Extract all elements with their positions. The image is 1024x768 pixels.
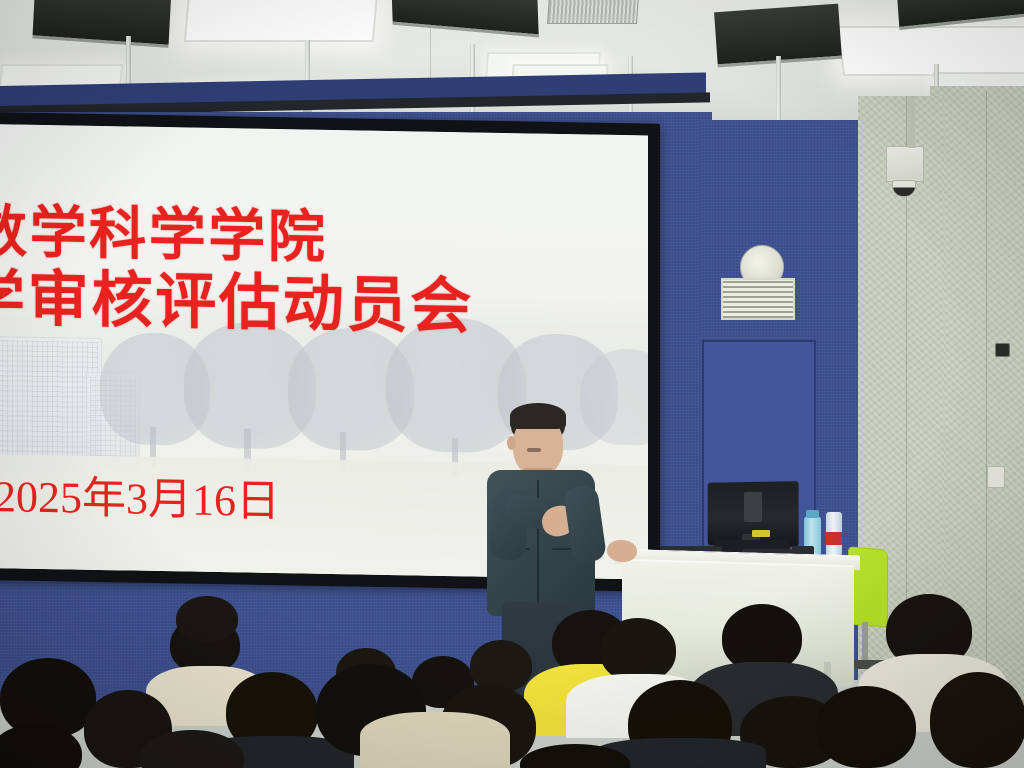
presenter-mouth bbox=[527, 448, 541, 452]
audience-head bbox=[816, 686, 916, 768]
equipment-box bbox=[886, 146, 924, 182]
audience-head bbox=[176, 596, 238, 642]
ceiling-air-vent bbox=[547, 0, 639, 24]
wall-plate bbox=[987, 466, 1005, 488]
audience-shoulders bbox=[360, 712, 510, 768]
led-panel-light bbox=[837, 26, 1024, 76]
wall-fixture bbox=[995, 343, 1010, 357]
bottle-cap bbox=[806, 510, 819, 518]
wall-vent-grille bbox=[721, 278, 795, 320]
presenter-ear bbox=[507, 436, 516, 450]
monitor-vesa-mount bbox=[744, 492, 762, 522]
slide-date: 2025年3月16日 bbox=[0, 460, 280, 529]
lecture-hall-photo: 数学科学学院 学审核评估动员会 2025年3月16日 bbox=[0, 0, 1024, 768]
slide-title-line-1: 数学科学学院 bbox=[0, 202, 327, 269]
led-panel-light bbox=[184, 0, 378, 42]
slide-title-line-2: 学审核评估动员会 bbox=[0, 266, 474, 340]
bottle-label bbox=[826, 532, 842, 545]
chair-stem bbox=[862, 622, 868, 662]
monitor-cable-tag bbox=[752, 530, 770, 537]
conduit bbox=[908, 96, 915, 148]
audience-head bbox=[600, 618, 676, 682]
audience-head bbox=[930, 672, 1024, 768]
wall-seam bbox=[986, 92, 987, 722]
presenter-hair bbox=[510, 403, 566, 429]
